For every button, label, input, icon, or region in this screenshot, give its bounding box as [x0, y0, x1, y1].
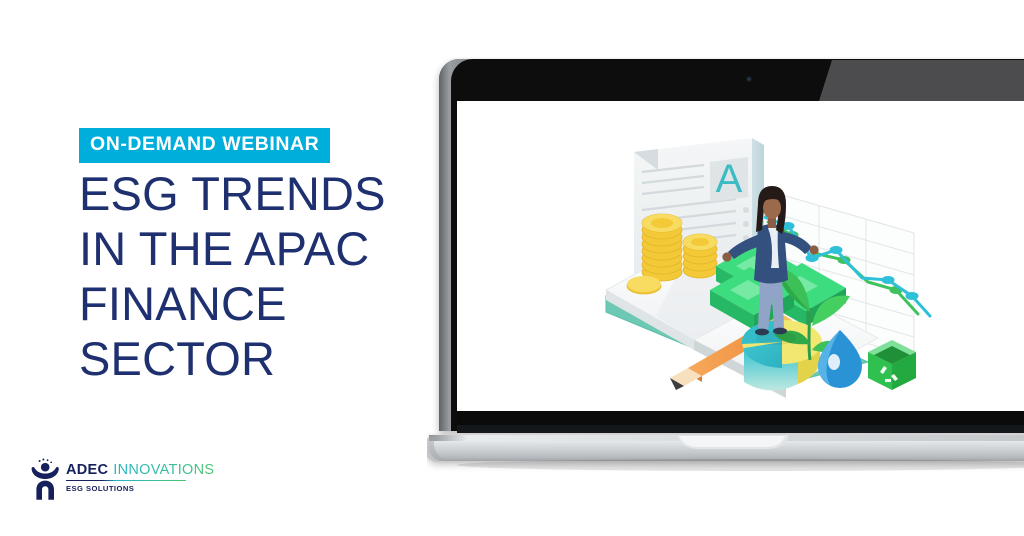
text-column: ON-DEMAND WEBINAR ESG TRENDS IN THE APAC… [0, 0, 420, 536]
headline-line-4: SECTOR [79, 332, 409, 387]
logo-underline-rule [66, 480, 186, 482]
logo-text: ADEC INNOVATIONS ESG SOLUTIONS [66, 458, 214, 493]
logo-primary-text: ADEC [66, 463, 108, 478]
eyebrow-badge: ON-DEMAND WEBINAR [79, 128, 330, 163]
adec-person-mark-icon [30, 458, 60, 500]
headline-line-2: IN THE APAC [79, 222, 409, 277]
page-title: ESG TRENDS IN THE APAC FINANCE SECTOR [79, 167, 409, 387]
headline-line-3: FINANCE [79, 277, 409, 332]
laptop-screen [457, 101, 1024, 411]
laptop-base [427, 435, 1024, 462]
logo-secondary-text: INNOVATIONS [113, 463, 214, 478]
logo-tagline: ESG SOLUTIONS [66, 484, 214, 493]
brand-logo[interactable]: ADEC INNOVATIONS ESG SOLUTIONS [30, 458, 214, 500]
promo-banner: ON-DEMAND WEBINAR ESG TRENDS IN THE APAC… [0, 0, 1024, 536]
headline-line-1: ESG TRENDS [79, 167, 409, 222]
laptop-device [427, 57, 1024, 477]
